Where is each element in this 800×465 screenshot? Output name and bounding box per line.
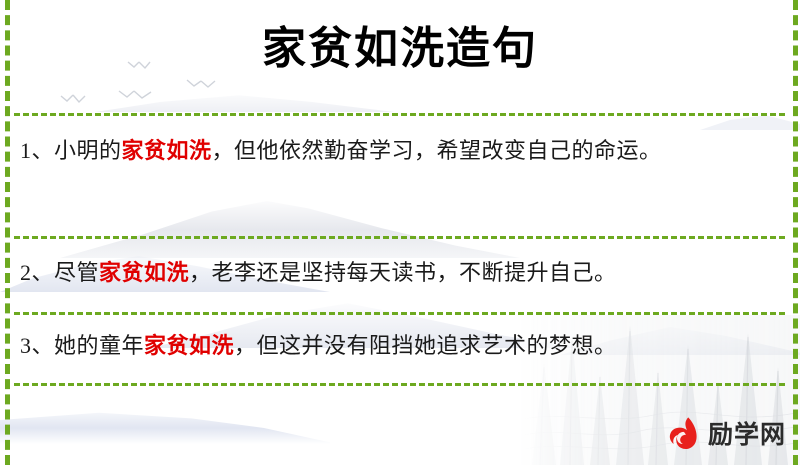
flying-bird-icon: [60, 93, 86, 105]
page-title: 家贫如洗造句: [0, 24, 800, 75]
sentence-number: 3、: [20, 333, 54, 358]
sentence-number: 1、: [20, 138, 54, 163]
ink-mountain-icon: [60, 196, 520, 258]
dashed-vertical-rail-left: [5, 0, 10, 465]
sentence-number: 2、: [20, 260, 54, 285]
sentence-text-after: ，但这并没有阻挡她追求艺术的梦想。: [234, 333, 617, 358]
sentence-text-after: ，老李还是坚持每天读书，不断提升自己。: [189, 260, 617, 285]
sentence-text-before: 她的童年: [54, 333, 144, 358]
dashed-vertical-rail-right: [793, 0, 798, 465]
idiom-highlight: 家贫如洗: [99, 260, 189, 285]
watermark-logo[interactable]: 励学网: [662, 414, 786, 454]
sentence-text-after: ，但他依然勤奋学习，希望改变自己的命运。: [212, 138, 662, 163]
ink-mist-icon: [95, 88, 395, 112]
brand-name: 励学网: [708, 422, 786, 447]
ink-mist-icon: [0, 404, 330, 444]
dashed-divider: [14, 383, 785, 386]
sentence-item-3: 3、她的童年家贫如洗，但这并没有阻挡她追求艺术的梦想。: [20, 325, 780, 367]
red-swirl-flame-icon: [662, 414, 702, 454]
dashed-divider: [14, 113, 785, 116]
idiom-highlight: 家贫如洗: [144, 333, 234, 358]
dashed-divider: [14, 312, 785, 315]
sentence-item-2: 2、尽管家贫如洗，老李还是坚持每天读书，不断提升自己。: [20, 252, 780, 294]
sentence-item-1: 1、小明的家贫如洗，但他依然勤奋学习，希望改变自己的命运。: [20, 130, 780, 172]
sentence-text-before: 尽管: [54, 260, 99, 285]
idiom-highlight: 家贫如洗: [122, 138, 212, 163]
dashed-divider: [14, 236, 785, 239]
flying-bird-icon: [118, 88, 152, 102]
sentence-text-before: 小明的: [54, 138, 122, 163]
sentence-card: 家贫如洗造句 1、小明的家贫如洗，但他依然勤奋学习，希望改变自己的命运。 2、尽…: [0, 0, 800, 465]
flying-bird-icon: [186, 78, 216, 91]
